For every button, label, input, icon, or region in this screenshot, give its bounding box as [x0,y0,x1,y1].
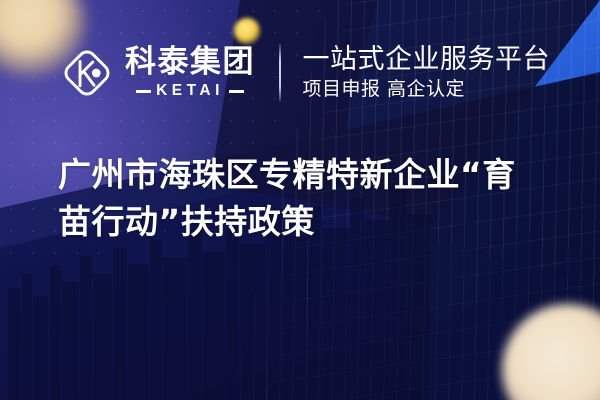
brand-name-cn: 科泰集团 [125,47,255,78]
vertical-divider [279,44,281,102]
brand-dash-right-icon [229,90,244,93]
brand-name-en-row: KETAI [136,83,244,99]
brand-dash-left-icon [136,90,151,93]
brand-wordmark: 科泰集团 KETAI [125,47,255,99]
promo-banner: 科泰集团 KETAI 一站式企业服务平台 项目申报 高企认定 广州市海珠区专精特… [0,0,600,400]
brand-name-en: KETAI [156,83,224,99]
banner-header: 科泰集团 KETAI 一站式企业服务平台 项目申报 高企认定 [58,44,550,102]
page-title: 广州市海珠区专精特新企业“育苗行动”扶持政策 [58,152,538,246]
gold-dot-icon [234,18,260,44]
tagline-block: 一站式企业服务平台 项目申报 高企认定 [303,45,551,102]
tagline-sub: 项目申报 高企认定 [303,78,551,102]
tagline-main: 一站式企业服务平台 [303,45,551,75]
ketai-diamond-k-logo-icon [58,44,116,102]
